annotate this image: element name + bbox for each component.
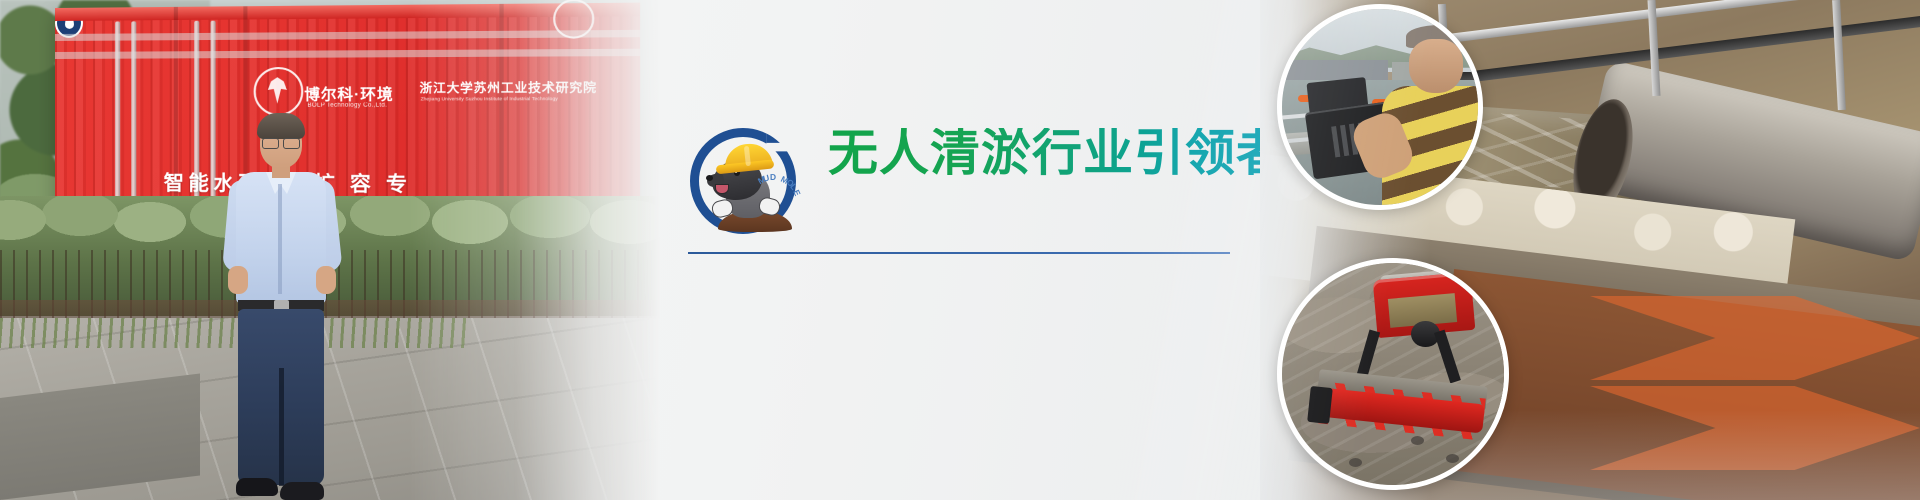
operator-person: [1380, 25, 1483, 205]
divider: [688, 252, 1230, 254]
left-photo: 博尔科·环境 BOLP Technology Co.,Ltd. 浙江大学苏州工业…: [0, 0, 660, 500]
logo-ring-text: MUD MOLE MUDMOLE: [746, 176, 800, 230]
logo-ring-letter: D: [769, 172, 776, 182]
headline: 无人清淤行业引领者: [828, 128, 1287, 178]
center-content: MUD MOLE MUDMOLE 无人清淤行业引领者 无人清淤行业引领者: [660, 0, 1260, 500]
glasses-icon: [262, 138, 300, 147]
circle-photo-dredger: [1277, 258, 1509, 490]
container-institute: 浙江大学苏州工业技术研究院: [420, 78, 597, 96]
container-brand-sub: BOLP Technology Co.,Ltd.: [307, 103, 387, 109]
engineer-person: [222, 118, 338, 500]
circle-photo-operator: [1277, 4, 1483, 210]
container-brand: 博尔科·环境: [304, 83, 393, 105]
bolp-emblem: [254, 67, 304, 116]
hard-hat-icon: [723, 142, 773, 173]
mud-mole-logo: MUD MOLE MUDMOLE: [690, 128, 796, 234]
container-institute-sub: Zhejiang University Suzhou Institute of …: [421, 96, 558, 101]
hero-banner: 博尔科·环境 BOLP Technology Co.,Ltd. 浙江大学苏州工业…: [0, 0, 1920, 500]
